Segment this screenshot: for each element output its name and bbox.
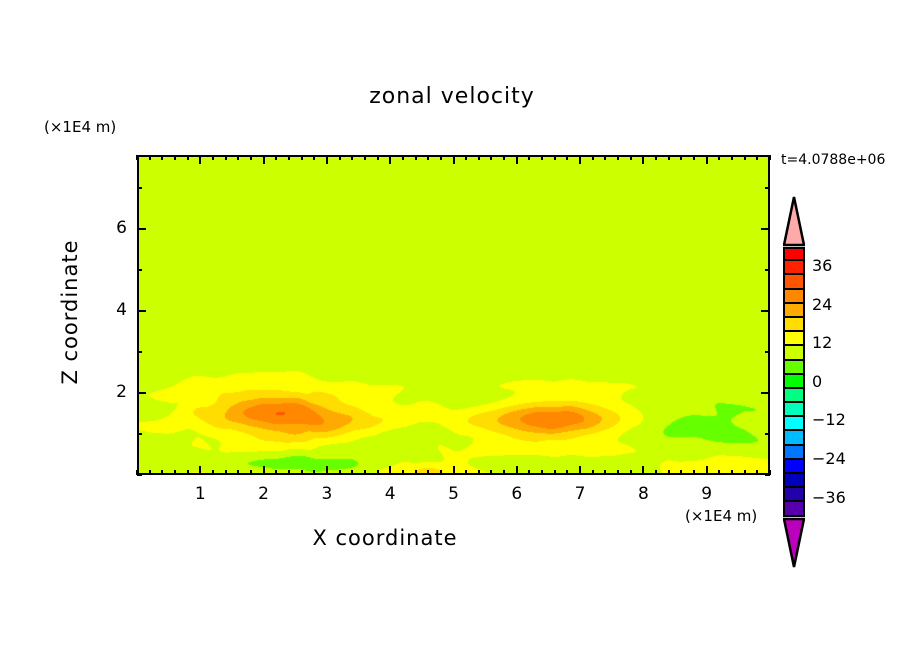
x-tick-minor-top (440, 155, 442, 160)
x-tick-minor (744, 470, 746, 475)
colorbar-band (783, 261, 805, 275)
x-tick-minor-top (313, 155, 315, 160)
x-tick-minor (503, 470, 505, 475)
x-tick-major (389, 466, 391, 475)
x-tick-minor-top (490, 155, 492, 160)
x-tick-minor-top (744, 155, 746, 160)
x-tick-minor (680, 470, 682, 475)
x-tick-minor (377, 470, 379, 475)
x-tick-minor-top (225, 155, 227, 160)
x-tick-major (579, 466, 581, 475)
x-tick-minor (465, 470, 467, 475)
x-tick-minor-top (187, 155, 189, 160)
colorbar-band (783, 375, 805, 389)
x-tick-major (453, 466, 455, 475)
x-tick-minor (554, 470, 556, 475)
x-tick-major (326, 466, 328, 475)
x-tick-minor-top (465, 155, 467, 160)
timestamp-annotation: t=4.0788e+06 (781, 152, 885, 168)
x-tick-minor-top (136, 155, 138, 160)
x-tick-minor-top (301, 155, 303, 160)
colorbar-band (783, 502, 805, 516)
x-tick-minor (541, 470, 543, 475)
x-tick-label: 8 (628, 484, 658, 504)
colorbar-band (783, 417, 805, 431)
x-tick-minor (566, 470, 568, 475)
colorbar-band (783, 346, 805, 360)
colorbar-tick-label: −36 (812, 488, 846, 507)
y-tick-minor-right (765, 474, 770, 476)
x-tick-label: 5 (439, 484, 469, 504)
x-tick-minor-top (541, 155, 543, 160)
x-tick-minor-top (668, 155, 670, 160)
x-tick-minor-top (339, 155, 341, 160)
y-axis-units-label: (×1E4 m) (44, 118, 116, 136)
colorbar-over-arrow (783, 195, 805, 247)
x-tick-minor (427, 470, 429, 475)
colorbar-band (783, 403, 805, 417)
x-tick-minor (288, 470, 290, 475)
colorbar-band (783, 247, 805, 261)
colorbar-under-arrow (783, 517, 805, 569)
colorbar-band (783, 361, 805, 375)
colorbar-band (783, 290, 805, 304)
colorbar-tick-label: −12 (812, 410, 846, 429)
x-tick-minor (693, 470, 695, 475)
x-tick-minor-top (351, 155, 353, 160)
x-tick-minor-top (149, 155, 151, 160)
contour-field (139, 157, 770, 475)
x-tick-minor-top (415, 155, 417, 160)
colorbar-tick-label: 0 (812, 372, 822, 391)
x-tick-major-top (199, 155, 201, 164)
x-tick-major-top (516, 155, 518, 164)
x-tick-major-top (453, 155, 455, 164)
x-tick-minor-top (630, 155, 632, 160)
x-tick-major-top (642, 155, 644, 164)
x-tick-minor-top (655, 155, 657, 160)
x-tick-minor (149, 470, 151, 475)
x-tick-major (263, 466, 265, 475)
x-tick-minor (718, 470, 720, 475)
x-tick-minor (237, 470, 239, 475)
x-tick-minor-top (756, 155, 758, 160)
y-tick-label: 6 (103, 218, 127, 238)
x-tick-major (706, 466, 708, 475)
y-tick-label: 2 (103, 382, 127, 402)
x-tick-minor (528, 470, 530, 475)
x-tick-label: 3 (312, 484, 342, 504)
colorbar-tick-label: 12 (812, 333, 832, 352)
colorbar-band (783, 488, 805, 502)
x-tick-major-top (389, 155, 391, 164)
x-tick-label: 1 (185, 484, 215, 504)
x-tick-minor-top (554, 155, 556, 160)
y-tick-minor-right (765, 269, 770, 271)
colorbar-band (783, 431, 805, 445)
x-tick-minor-top (592, 155, 594, 160)
colorbar-tick-label: 24 (812, 295, 832, 314)
y-tick-major (137, 228, 146, 230)
colorbar-band (783, 446, 805, 460)
colorbar-tick-label: −24 (812, 449, 846, 468)
x-tick-major-top (706, 155, 708, 164)
x-tick-minor-top (427, 155, 429, 160)
x-tick-minor-top (680, 155, 682, 160)
x-tick-minor (212, 470, 214, 475)
x-tick-minor-top (528, 155, 530, 160)
x-tick-minor (756, 470, 758, 475)
x-tick-major (516, 466, 518, 475)
x-tick-minor-top (212, 155, 214, 160)
x-axis-title: X coordinate (0, 526, 770, 550)
x-tick-minor-top (718, 155, 720, 160)
x-tick-minor-top (769, 155, 771, 160)
x-tick-minor (731, 470, 733, 475)
x-tick-minor (630, 470, 632, 475)
colorbar-band (783, 474, 805, 488)
x-tick-label: 4 (375, 484, 405, 504)
x-tick-minor-top (174, 155, 176, 160)
x-tick-minor (668, 470, 670, 475)
x-tick-label: 9 (692, 484, 722, 504)
x-tick-minor (187, 470, 189, 475)
x-tick-minor-top (377, 155, 379, 160)
x-tick-minor (275, 470, 277, 475)
x-tick-minor-top (566, 155, 568, 160)
x-tick-minor-top (478, 155, 480, 160)
x-tick-major-top (579, 155, 581, 164)
x-tick-major-top (263, 155, 265, 164)
y-tick-label: 4 (103, 300, 127, 320)
x-tick-minor (364, 470, 366, 475)
x-tick-minor (490, 470, 492, 475)
x-tick-minor-top (731, 155, 733, 160)
x-tick-minor (301, 470, 303, 475)
y-tick-minor (137, 433, 142, 435)
colorbar-band (783, 389, 805, 403)
x-tick-minor (655, 470, 657, 475)
y-tick-minor-right (765, 433, 770, 435)
colorbar-tick-label: 36 (812, 256, 832, 275)
x-tick-minor-top (503, 155, 505, 160)
x-tick-major (642, 466, 644, 475)
x-tick-minor (250, 470, 252, 475)
x-tick-minor (617, 470, 619, 475)
colorbar (783, 247, 805, 517)
y-tick-minor (137, 351, 142, 353)
colorbar-band (783, 318, 805, 332)
x-tick-minor-top (161, 155, 163, 160)
x-tick-minor (161, 470, 163, 475)
x-tick-minor (592, 470, 594, 475)
y-axis-title: Z coordinate (58, 222, 82, 402)
x-tick-minor-top (288, 155, 290, 160)
y-tick-major (137, 392, 146, 394)
x-tick-minor (225, 470, 227, 475)
y-tick-major-right (761, 392, 770, 394)
x-tick-minor (351, 470, 353, 475)
x-tick-minor (415, 470, 417, 475)
y-tick-major (137, 310, 146, 312)
colorbar-band (783, 275, 805, 289)
y-tick-minor-right (765, 187, 770, 189)
x-tick-minor-top (402, 155, 404, 160)
y-tick-minor (137, 474, 142, 476)
y-tick-major-right (761, 310, 770, 312)
x-tick-major (199, 466, 201, 475)
page-title: zonal velocity (0, 84, 904, 109)
x-tick-minor-top (237, 155, 239, 160)
contour-plot-area (137, 155, 770, 475)
x-tick-major-top (326, 155, 328, 164)
x-tick-minor-top (604, 155, 606, 160)
y-tick-minor-right (765, 351, 770, 353)
x-tick-minor-top (617, 155, 619, 160)
x-axis-units-label: (×1E4 m) (685, 507, 757, 525)
x-tick-minor (174, 470, 176, 475)
x-tick-minor-top (364, 155, 366, 160)
x-tick-minor (402, 470, 404, 475)
colorbar-band (783, 304, 805, 318)
y-tick-major-right (761, 228, 770, 230)
x-tick-minor (440, 470, 442, 475)
colorbar-band (783, 332, 805, 346)
x-tick-label: 7 (565, 484, 595, 504)
x-tick-minor-top (275, 155, 277, 160)
y-tick-minor (137, 269, 142, 271)
x-tick-minor-top (693, 155, 695, 160)
colorbar-band (783, 460, 805, 474)
x-tick-minor (604, 470, 606, 475)
x-tick-minor (478, 470, 480, 475)
x-tick-label: 6 (502, 484, 532, 504)
x-tick-minor (313, 470, 315, 475)
x-tick-minor-top (250, 155, 252, 160)
x-tick-label: 2 (249, 484, 279, 504)
x-tick-minor (339, 470, 341, 475)
y-tick-minor (137, 187, 142, 189)
